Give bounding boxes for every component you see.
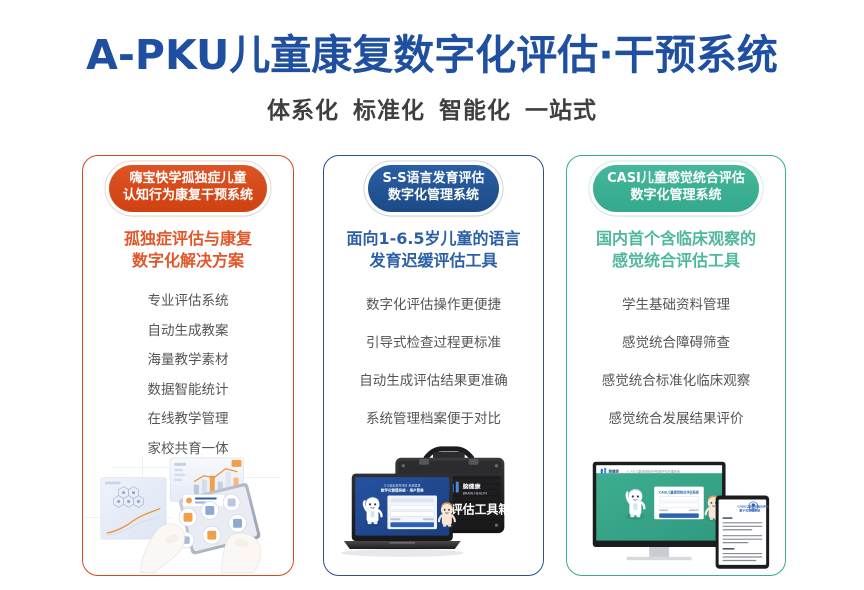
list-item: 专业评估系统 [83,287,293,317]
list-item: 在线教学管理 [83,405,293,435]
badge-line-2: 数字化管理系统 [607,188,745,205]
subtitle-item-2: 标准化 [353,98,425,124]
laptop: S-S语言发育评估 系统登录 数字化管理系统 · 用户登录 [341,474,464,557]
feature-list: 学生基础资料管理 感觉统合障碍筛查 感觉统合标准化临床观察 感觉统合发展结果评价 [567,287,785,438]
product-card-list: 嗨宝快学孤独症儿童 认知行为康复干预系统 孤独症评估与康复 数字化解决方案 专业… [0,155,864,576]
list-item: 感觉统合发展结果评价 [567,400,785,438]
card-heading-line-1: 国内首个含临床观察的 [596,229,756,248]
feature-list: 数字化评估操作更便捷 引导式检查过程更标准 自动生成评估结果更准确 系统管理档案… [324,287,543,438]
svg-text:BRAIN HEALTH: BRAIN HEALTH [463,492,488,496]
poster-page: A-PKU儿童康复数字化评估·干预系统 体系化标准化智能化一站式 嗨宝快学孤独症… [0,0,864,590]
badge-wrapper: S-S语言发育评估 数字化管理系统 [324,165,543,212]
list-item: 感觉统合障碍筛查 [567,324,785,362]
svg-text:脑健康: 脑健康 [609,469,620,474]
tablet-dashboard-illustration [83,448,293,575]
feature-list: 专业评估系统 自动生成教案 海量教学素材 数据智能统计 在线教学管理 家校共育一… [83,287,293,465]
desktop-monitor: 脑健康 | CASI儿童感觉统合评估数字化管理系统 CASI儿童感觉统合评估系统 [593,462,726,560]
page-title: A-PKU儿童康复数字化评估·干预系统 [0,34,864,77]
badge-line-2: 认知行为康复干预系统 [123,188,253,205]
product-card-autism[interactable]: 嗨宝快学孤独症儿童 认知行为康复干预系统 孤独症评估与康复 数字化解决方案 专业… [82,155,294,576]
badge-line-1: S-S语言发育评估 [382,171,484,186]
list-item: 引导式检查过程更标准 [324,324,543,362]
list-item: 数字化评估操作更便捷 [324,287,543,325]
badge-line-1: CASI儿童感觉统合评估 [607,171,745,186]
list-item: 自动生成教案 [83,316,293,346]
badge-wrapper: CASI儿童感觉统合评估 数字化管理系统 [567,165,785,212]
card-heading: 面向1-6.5岁儿童的语言 发育迟缓评估工具 [324,228,543,273]
card-heading-line-2: 数字化解决方案 [83,250,293,272]
card-heading-line-2: 感觉统合评估工具 [567,250,785,272]
svg-text:CASI儿童感觉统合评估系统: CASI儿童感觉统合评估系统 [659,490,700,495]
card-heading-line-2: 发育迟缓评估工具 [324,250,543,272]
list-item: 自动生成评估结果更准确 [324,362,543,400]
card-heading-line-1: 孤独症评估与康复 [124,229,252,248]
card-heading: 孤独症评估与康复 数字化解决方案 [83,228,293,273]
list-item: 感觉统合标准化临床观察 [567,362,785,400]
product-badge: CASI儿童感觉统合评估 数字化管理系统 [593,165,759,212]
page-subtitle: 体系化标准化智能化一站式 [0,91,864,125]
card-heading-line-1: 面向1-6.5岁儿童的语言 [346,229,520,248]
list-item: 海量教学素材 [83,346,293,376]
card-heading: 国内首个含临床观察的 感觉统合评估工具 [567,228,785,273]
product-badge: 嗨宝快学孤独症儿童 认知行为康复干预系统 [109,165,267,212]
product-card-casi-sensory[interactable]: CASI儿童感觉统合评估 数字化管理系统 国内首个含临床观察的 感觉统合评估工具… [566,155,786,576]
badge-wrapper: 嗨宝快学孤独症儿童 认知行为康复干预系统 [83,165,293,212]
badge-line-1: 嗨宝快学孤独症儿童 [129,171,246,186]
tablet-report: CASI儿童感觉统合评估 数字化管理系统 [716,496,770,569]
laptop-and-toolkit-case-photo: 脑健康 BRAIN HEALTH 评估工具箱 S-S语言发育评估 系统登录 数字… [324,436,543,575]
product-badge: S-S语言发育评估 数字化管理系统 [368,165,498,212]
list-item: 学生基础资料管理 [567,287,785,325]
header: A-PKU儿童康复数字化评估·干预系统 体系化标准化智能化一站式 [0,0,864,125]
subtitle-item-1: 体系化 [267,98,339,124]
case-label: 评估工具箱 [451,503,510,517]
badge-line-2: 数字化管理系统 [382,188,484,205]
product-card-ss-language[interactable]: S-S语言发育评估 数字化管理系统 面向1-6.5岁儿童的语言 发育迟缓评估工具… [323,155,544,576]
monitor-and-tablet-illustration: 脑健康 | CASI儿童感觉统合评估数字化管理系统 CASI儿童感觉统合评估系统 [567,440,785,575]
svg-text:脑健康: 脑健康 [463,483,481,491]
svg-text:数字化管理系统 · 用户登录: 数字化管理系统 · 用户登录 [380,488,424,493]
subtitle-item-4: 一站式 [525,98,597,124]
svg-text:| CASI儿童感觉统合评估数字化管理系统: | CASI儿童感觉统合评估数字化管理系统 [626,469,679,474]
list-item: 数据智能统计 [83,375,293,405]
list-item: 系统管理档案便于对比 [324,400,543,438]
subtitle-item-3: 智能化 [439,98,511,124]
svg-text:S-S语言发育评估 系统登录: S-S语言发育评估 系统登录 [384,483,421,488]
